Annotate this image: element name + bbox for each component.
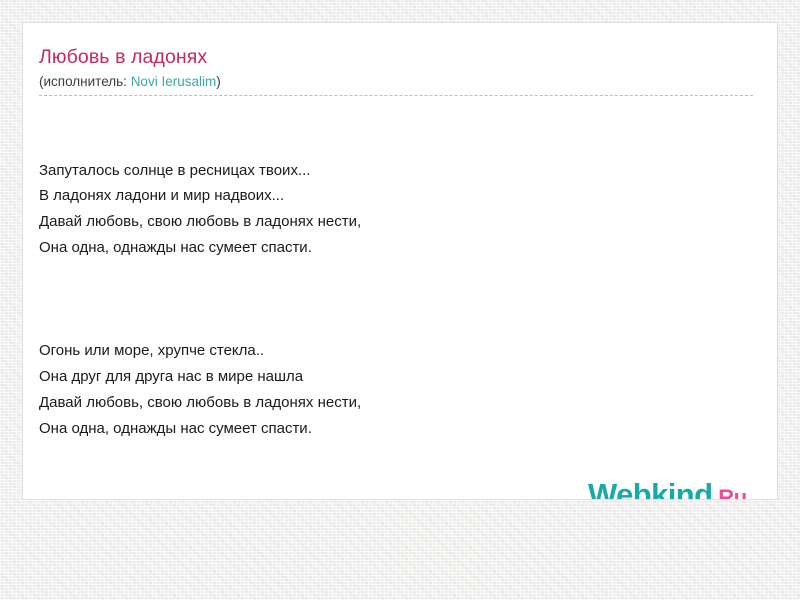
- lyrics-verse: Запуталось солнце в ресницах твоих...В л…: [39, 158, 757, 261]
- lyrics-verse: Огонь или море, хрупче стекла..Она друг …: [39, 338, 757, 441]
- artist-link[interactable]: Novi Ierusalim: [131, 74, 217, 89]
- page-title: Любовь в ладонях: [39, 45, 753, 69]
- lyrics-body: Запуталось солнце в ресницах твоих...В л…: [39, 106, 757, 500]
- artist-suffix: ): [216, 74, 221, 89]
- song-header: Любовь в ладонях (исполнитель: Novi Ieru…: [39, 45, 753, 96]
- lyric-line: Давай любовь, свою любовь в ладонях нест…: [39, 390, 757, 416]
- lyric-line: Она друг для друга нас в мире нашла: [39, 364, 757, 390]
- lyric-line: Она одна, однажды нас сумеет спасти.: [39, 416, 757, 442]
- lyric-line: Запуталось солнце в ресницах твоих...: [39, 158, 757, 184]
- lyrics-page-card: Любовь в ладонях (исполнитель: Novi Ieru…: [22, 22, 778, 500]
- lyric-line: Давай любовь, свою любовь в ладонях нест…: [39, 209, 757, 235]
- lyric-line: Огонь или море, хрупче стекла..: [39, 338, 757, 364]
- artist-label: (исполнитель:: [39, 74, 131, 89]
- artist-line: (исполнитель: Novi Ierusalim): [39, 72, 753, 96]
- lyric-line: В ладонях ладони и мир надвоих...: [39, 183, 757, 209]
- lyric-line: Она одна, однажды нас сумеет спасти.: [39, 235, 757, 261]
